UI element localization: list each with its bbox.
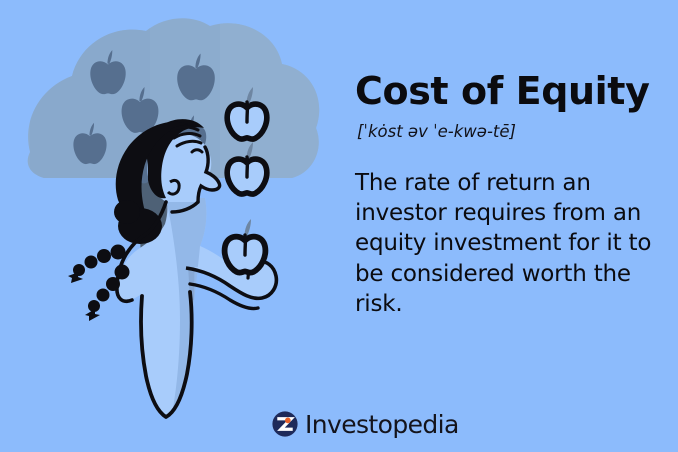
definition-card: Cost of Equity [ˈkȯst əv ˈe-kwə-tē] The … xyxy=(0,0,678,452)
investopedia-logo-icon xyxy=(272,411,298,437)
term-pronunciation: [ˈkȯst əv ˈe-kwə-tē] xyxy=(357,122,667,142)
term-text-column: Cost of Equity [ˈkȯst əv ˈe-kwə-tē] The … xyxy=(355,72,667,319)
outlined-apple-floating xyxy=(225,219,266,273)
illustration-panel xyxy=(0,0,340,452)
term-definition: The rate of return an investor requires … xyxy=(355,168,667,320)
brand-lockup: Investopedia xyxy=(272,411,459,437)
page-title: Cost of Equity xyxy=(355,72,667,112)
brand-name: Investopedia xyxy=(305,412,459,437)
